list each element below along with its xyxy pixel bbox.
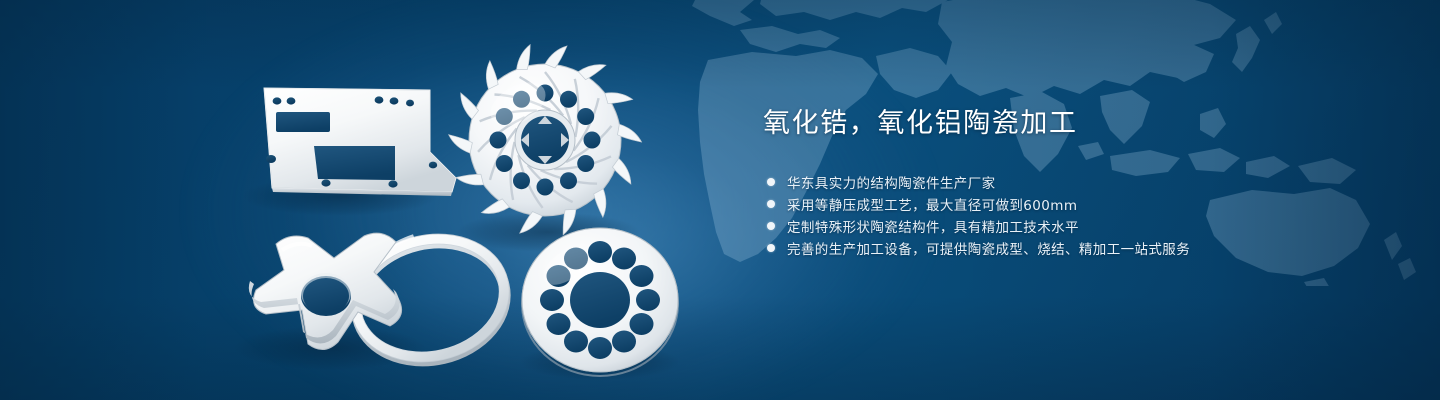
bullet-dot-icon — [767, 222, 775, 230]
list-item: 定制特殊形状陶瓷结构件，具有精加工技术水平 — [767, 215, 1363, 236]
feature-text: 华东具实力的结构陶瓷件生产厂家 — [787, 172, 996, 192]
feature-text: 采用等静压成型工艺，最大直径可做到600mm — [787, 194, 1077, 214]
feature-text: 定制特殊形状陶瓷结构件，具有精加工技术水平 — [787, 216, 1079, 236]
bullet-dot-icon — [767, 200, 775, 208]
page-title: 氧化锆，氧化铝陶瓷加工 — [763, 108, 1363, 139]
ceramic-impeller-disc — [449, 45, 642, 235]
list-item: 采用等静压成型工艺，最大直径可做到600mm — [767, 193, 1363, 214]
list-item: 华东具实力的结构陶瓷件生产厂家 — [767, 171, 1363, 192]
product-photo-group — [0, 0, 740, 400]
bullet-dot-icon — [767, 244, 775, 252]
list-item: 完善的生产加工设备，可提供陶瓷成型、烧结、精加工一站式服务 — [767, 237, 1363, 258]
banner-copy: 氧化锆，氧化铝陶瓷加工 华东具实力的结构陶瓷件生产厂家 采用等静压成型工艺，最大… — [763, 108, 1363, 259]
hero-banner: 氧化锆，氧化铝陶瓷加工 华东具实力的结构陶瓷件生产厂家 采用等静压成型工艺，最大… — [0, 0, 1440, 400]
feature-text: 完善的生产加工设备，可提供陶瓷成型、烧结、精加工一站式服务 — [787, 238, 1190, 258]
ceramic-machined-plate — [264, 88, 456, 196]
feature-list: 华东具实力的结构陶瓷件生产厂家 采用等静压成型工艺，最大直径可做到600mm 定… — [767, 171, 1363, 258]
bullet-dot-icon — [767, 178, 775, 186]
